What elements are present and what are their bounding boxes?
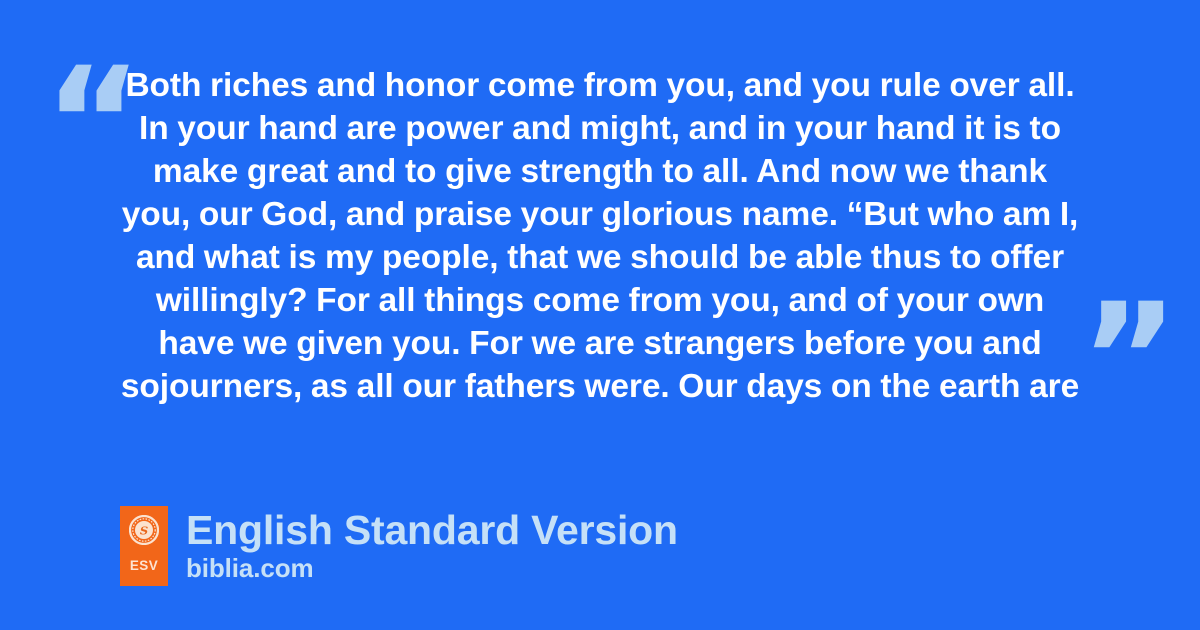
quote-text: Both riches and honor come from you, and…	[108, 64, 1092, 408]
svg-text:S: S	[140, 524, 148, 538]
site-name-link[interactable]: biblia.com	[186, 553, 678, 583]
bible-version-name: English Standard Version	[186, 508, 678, 552]
esv-logo-badge: S ESV	[120, 506, 168, 586]
esv-logo-label: ESV	[120, 558, 168, 573]
attribution: S ESV English Standard Version biblia.co…	[120, 506, 678, 586]
esv-seal-icon: S	[129, 515, 159, 545]
quote-block: “ Both riches and honor come from you, a…	[0, 56, 1200, 426]
close-quote-icon: ”	[1080, 284, 1179, 434]
quote-card: “ Both riches and honor come from you, a…	[0, 0, 1200, 630]
attribution-text: English Standard Version biblia.com	[186, 506, 678, 583]
